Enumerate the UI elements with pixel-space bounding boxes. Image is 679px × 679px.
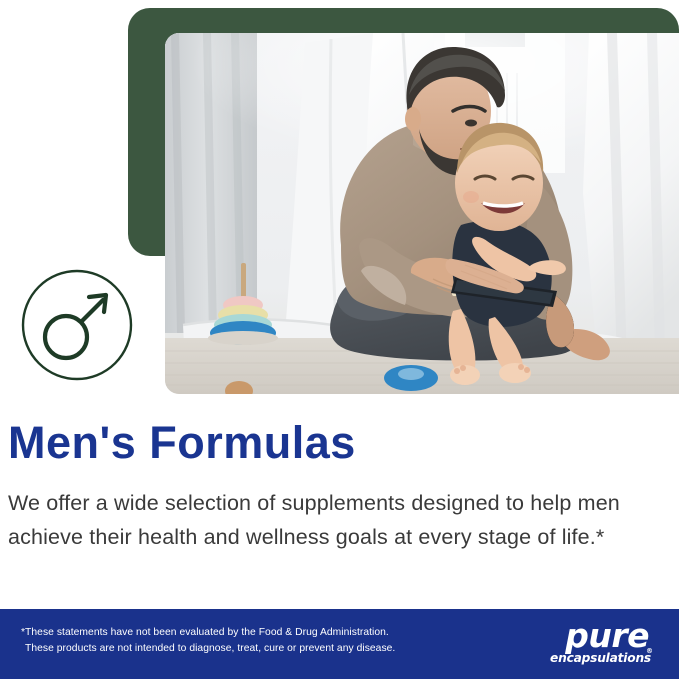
fda-disclaimer: *These statements have not been evaluate… (21, 625, 451, 656)
fda-disclaimer-line-1: *These statements have not been evaluate… (21, 627, 389, 638)
blue-toy (384, 365, 438, 391)
male-gender-symbol-icon (20, 268, 134, 382)
male-gender-symbol-glyph (20, 268, 134, 382)
logo-subtitle: encapsulations (505, 651, 653, 666)
product-category-banner: Men's Formulas We offer a wide selection… (0, 0, 679, 679)
logo-wordmark: pure (505, 621, 653, 651)
footer-bar: *These statements have not been evaluate… (0, 609, 679, 679)
fda-disclaimer-line-2: These products are not intended to diagn… (21, 641, 451, 657)
registered-trademark-icon: ® (646, 647, 653, 655)
page-title: Men's Formulas (8, 416, 356, 470)
hero-photo-illustration (165, 33, 679, 394)
hero-photo (165, 33, 679, 394)
page-subtitle: We offer a wide selection of supplements… (8, 487, 648, 554)
pure-encapsulations-logo: pure encapsulations ® (505, 621, 653, 669)
